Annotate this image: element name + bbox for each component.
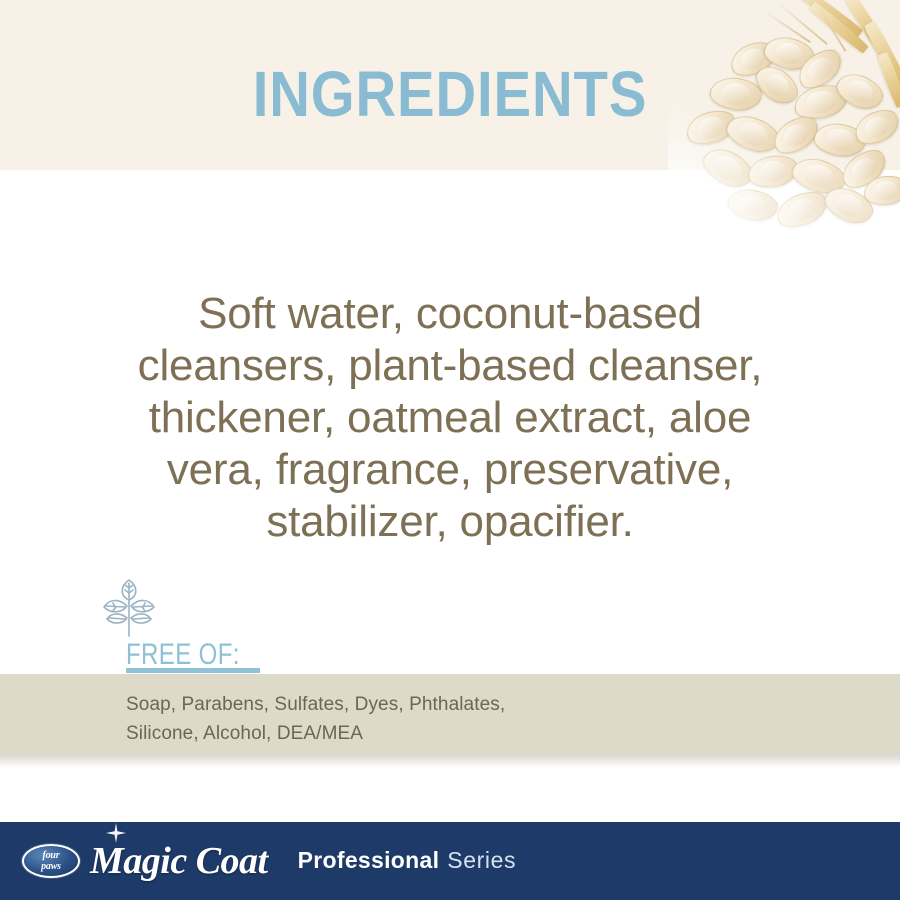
free-of-block: FREE OF:	[92, 578, 432, 672]
magic-coat-wordmark: Magic Coat	[90, 842, 274, 880]
four-paws-badge-icon: four paws	[22, 844, 80, 878]
product-ingredients-panel: INGREDIENTS Soft water, coconut-based cl…	[0, 0, 900, 900]
free-of-list: Soap, Parabens, Sulfates, Dyes, Phthalat…	[126, 690, 826, 748]
page-title: INGREDIENTS	[54, 62, 846, 126]
free-of-underline	[126, 668, 260, 673]
professional-label: Professional	[298, 847, 440, 874]
ingredients-line: cleansers, plant-based cleanser,	[138, 341, 763, 390]
ingredients-text: Soft water, coconut-based cleansers, pla…	[50, 288, 850, 548]
four-paws-line2: paws	[41, 862, 61, 872]
free-of-list-line: Silicone, Alcohol, DEA/MEA	[126, 719, 826, 748]
four-paws-line1: four	[43, 851, 60, 861]
free-of-list-line: Soap, Parabens, Sulfates, Dyes, Phthalat…	[126, 690, 826, 719]
free-of-heading: FREE OF:	[126, 638, 371, 672]
ingredients-line: vera, fragrance, preservative,	[167, 445, 733, 494]
ingredients-line: Soft water, coconut-based	[198, 289, 702, 338]
professional-series-label: Professional Series	[298, 847, 516, 874]
brand-logo-group: four paws Magic Coat Professional Series	[22, 832, 516, 890]
leaf-sprig-icon	[98, 578, 160, 640]
series-label: Series	[447, 847, 516, 874]
free-of-band-shadow	[0, 754, 900, 768]
ingredients-line: stabilizer, opacifier.	[266, 497, 633, 546]
ingredients-line: thickener, oatmeal extract, aloe	[149, 393, 752, 442]
